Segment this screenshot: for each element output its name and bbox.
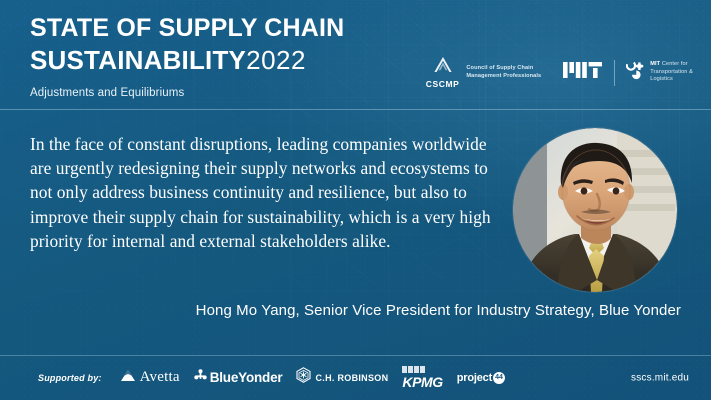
page-title-sustainability: SUSTAINABILITY	[30, 45, 246, 75]
avatar	[513, 128, 677, 292]
sponsor-bar: Supported by: Avetta	[38, 355, 711, 400]
ch-robinson-wordmark: C.H. ROBINSON	[315, 373, 388, 383]
cscmp-fullname-line1: Council of Supply Chain	[466, 65, 541, 73]
mit-logo[interactable]	[563, 60, 603, 85]
kpmg-bars-icon	[402, 366, 425, 373]
page-title-line2: SUSTAINABILITY2022	[30, 44, 344, 81]
title-block: STATE OF SUPPLY CHAIN SUSTAINABILITY2022…	[30, 13, 344, 99]
site-url-link[interactable]: sscs.mit.edu	[631, 372, 689, 383]
ctl-mark-icon	[626, 61, 645, 85]
ctl-name-mit: MIT	[650, 61, 660, 67]
avetta-mountain-icon	[120, 369, 136, 387]
ctl-name-line1: MIT Center for	[650, 61, 693, 68]
sponsor-project44[interactable]: project 44	[457, 372, 505, 384]
ctl-name-line3: Logistics	[650, 76, 693, 83]
kpmg-wordmark: KPMG	[402, 374, 442, 390]
supported-by-label: Supported by:	[38, 373, 102, 383]
cscmp-acronym: CSCMP	[426, 79, 460, 89]
slide-root: STATE OF SUPPLY CHAIN SUSTAINABILITY2022…	[0, 0, 711, 400]
quote-attribution: Hong Mo Yang, Senior Vice President for …	[30, 302, 681, 319]
ctl-name-line2: Transportation &	[650, 69, 693, 76]
sponsor-ch-robinson[interactable]: C.H. ROBINSON	[296, 367, 388, 388]
blueyonder-yonder: Yonder	[238, 370, 282, 385]
quote-text: In the face of constant disruptions, lea…	[30, 132, 492, 253]
page-title-line1: STATE OF SUPPLY CHAIN	[30, 13, 344, 43]
cscmp-logo[interactable]: CSCMP Council of Supply Chain Management…	[426, 56, 542, 89]
cscmp-triangle-icon	[433, 56, 453, 78]
mit-wordmark-icon	[563, 67, 603, 84]
sponsor-blueyonder[interactable]: BlueYonder	[194, 369, 283, 387]
mit-ctl-logo[interactable]: MIT Center for Transportation & Logistic…	[626, 61, 693, 85]
cscmp-fullname: Council of Supply Chain Management Profe…	[466, 65, 541, 80]
page-subtitle: Adjustments and Equilibriums	[30, 87, 344, 99]
slide-header: STATE OF SUPPLY CHAIN SUSTAINABILITY2022…	[0, 0, 711, 110]
ctl-name: MIT Center for Transportation & Logistic…	[650, 61, 693, 83]
project44-badge-icon: 44	[493, 372, 505, 384]
avetta-wordmark: Avetta	[140, 369, 180, 386]
logo-divider	[614, 60, 615, 86]
ctl-name-center-for: Center for	[660, 61, 688, 67]
sponsor-kpmg[interactable]: KPMG	[402, 366, 442, 390]
slide-footer: Supported by: Avetta	[0, 355, 711, 400]
blueyonder-plus-icon	[194, 369, 207, 387]
blueyonder-wordmark: BlueYonder	[210, 370, 283, 385]
cscmp-fullname-line2: Management Professionals	[466, 73, 541, 81]
blueyonder-blue: Blue	[210, 370, 238, 385]
page-title-year: 2022	[246, 45, 306, 75]
slide-body: In the face of constant disruptions, lea…	[0, 110, 711, 355]
sponsor-avetta[interactable]: Avetta	[120, 369, 180, 387]
header-logo-group: CSCMP Council of Supply Chain Management…	[426, 56, 693, 89]
ch-robinson-hex-icon	[296, 367, 311, 388]
cscmp-mark: CSCMP	[426, 56, 460, 89]
project44-wordmark: project	[457, 372, 492, 384]
